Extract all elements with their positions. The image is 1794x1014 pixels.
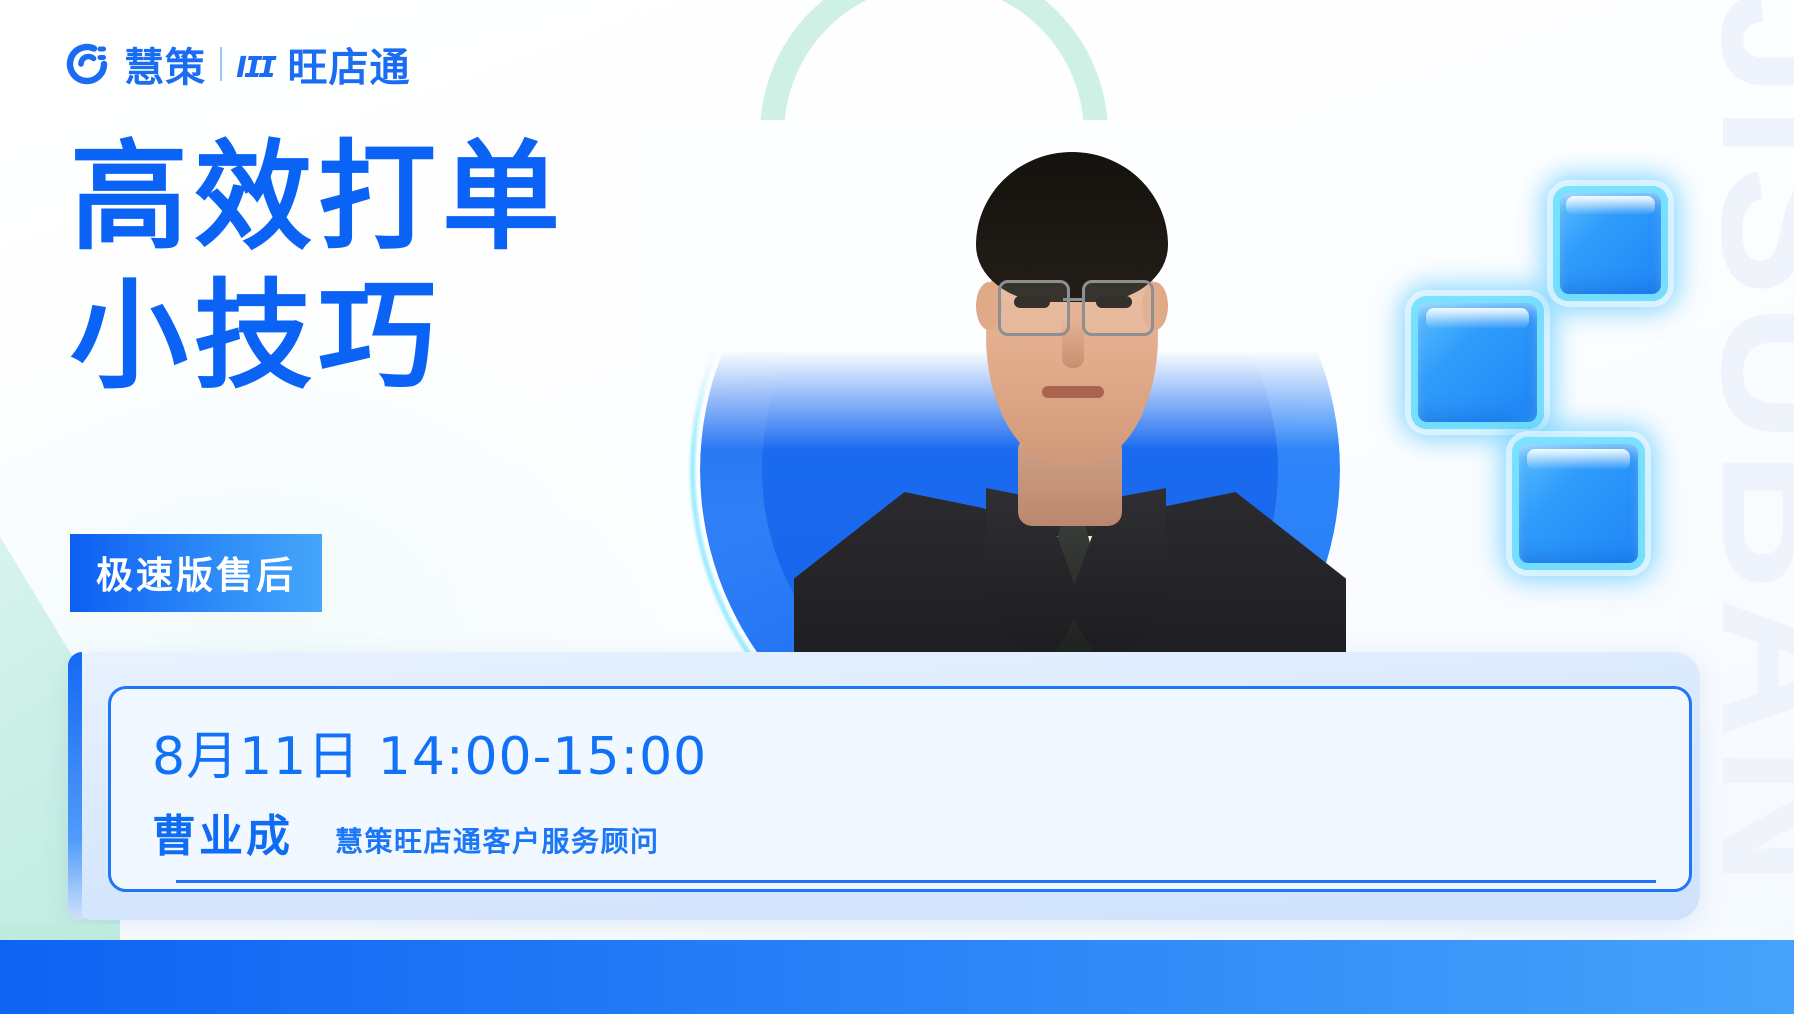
page-title: 高效打单 小技巧 (70, 128, 566, 406)
event-datetime: 8月11日 14:00-15:00 (152, 714, 707, 789)
watermark-text: JISUBAN (1700, 0, 1794, 892)
bottom-mint-strip (0, 924, 120, 940)
headline-line-1: 高效打单 (70, 128, 566, 267)
glossy-cube-icon-2 (1553, 186, 1668, 301)
brand-name-cn: 慧策 (124, 35, 206, 93)
portrait-mouth (1042, 386, 1104, 398)
glasses-lens-right (1082, 280, 1154, 336)
portrait-nose (1062, 320, 1084, 368)
w-icon: ıɪɪ (236, 42, 274, 87)
glossy-cube-icon-1 (1411, 296, 1544, 429)
bottom-accent-bar (0, 940, 1794, 1014)
speaker-info: 曹业成 慧策旺店通客户服务顾问 (152, 800, 660, 864)
info-card-divider (176, 880, 1656, 883)
speaker-role: 慧策旺店通客户服务顾问 (335, 820, 660, 860)
status-badge: 极速版售后 (70, 534, 322, 612)
speaker-name: 曹业成 (152, 800, 293, 864)
glossy-cube-icon-3 (1512, 437, 1645, 570)
webinar-promo-poster: JISUBAN (0, 0, 1794, 1014)
product-name-cn: 旺店通 (288, 35, 411, 93)
glasses-lens-left (998, 280, 1070, 336)
logo-divider (220, 47, 222, 81)
headline-line-2: 小技巧 (70, 267, 566, 406)
brand-logo[interactable]: 慧策 ıɪɪ 旺店通 (64, 38, 411, 90)
info-card-accent-bar (68, 652, 82, 920)
huice-c-icon (64, 41, 110, 87)
glasses-bridge (1063, 298, 1083, 301)
